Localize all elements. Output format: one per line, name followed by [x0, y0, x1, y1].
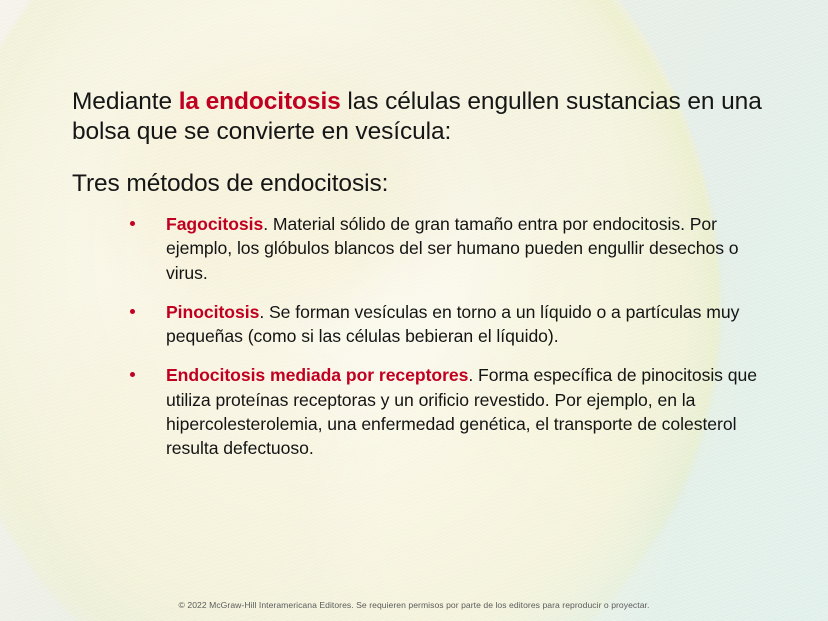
- bullet-list: Fagocitosis. Material sólido de gran tam…: [128, 212, 768, 461]
- list-item-term: Fagocitosis: [166, 214, 263, 234]
- list-item-term: Pinocitosis: [166, 302, 259, 322]
- list-item-term: Endocitosis mediada por receptores: [166, 365, 468, 385]
- list-item: Pinocitosis. Se forman vesículas en torn…: [128, 300, 768, 349]
- subheading: Tres métodos de endocitosis:: [72, 169, 772, 199]
- lead-highlight-term: la endocitosis: [179, 88, 341, 115]
- slide-content: Mediante la endocitosis las células engu…: [0, 0, 828, 621]
- list-item: Endocitosis mediada por receptores. Form…: [128, 363, 768, 460]
- slide-canvas: Mediante la endocitosis las células engu…: [0, 0, 828, 621]
- lead-paragraph: Mediante la endocitosis las células engu…: [72, 87, 772, 147]
- lead-text-pre: Mediante: [72, 88, 179, 115]
- list-item: Fagocitosis. Material sólido de gran tam…: [128, 212, 768, 285]
- copyright-footer: © 2022 McGraw-Hill Interamericana Editor…: [0, 599, 828, 611]
- bullet-dot-icon: [130, 372, 135, 377]
- bullet-dot-icon: [130, 221, 135, 226]
- bullet-dot-icon: [130, 309, 135, 314]
